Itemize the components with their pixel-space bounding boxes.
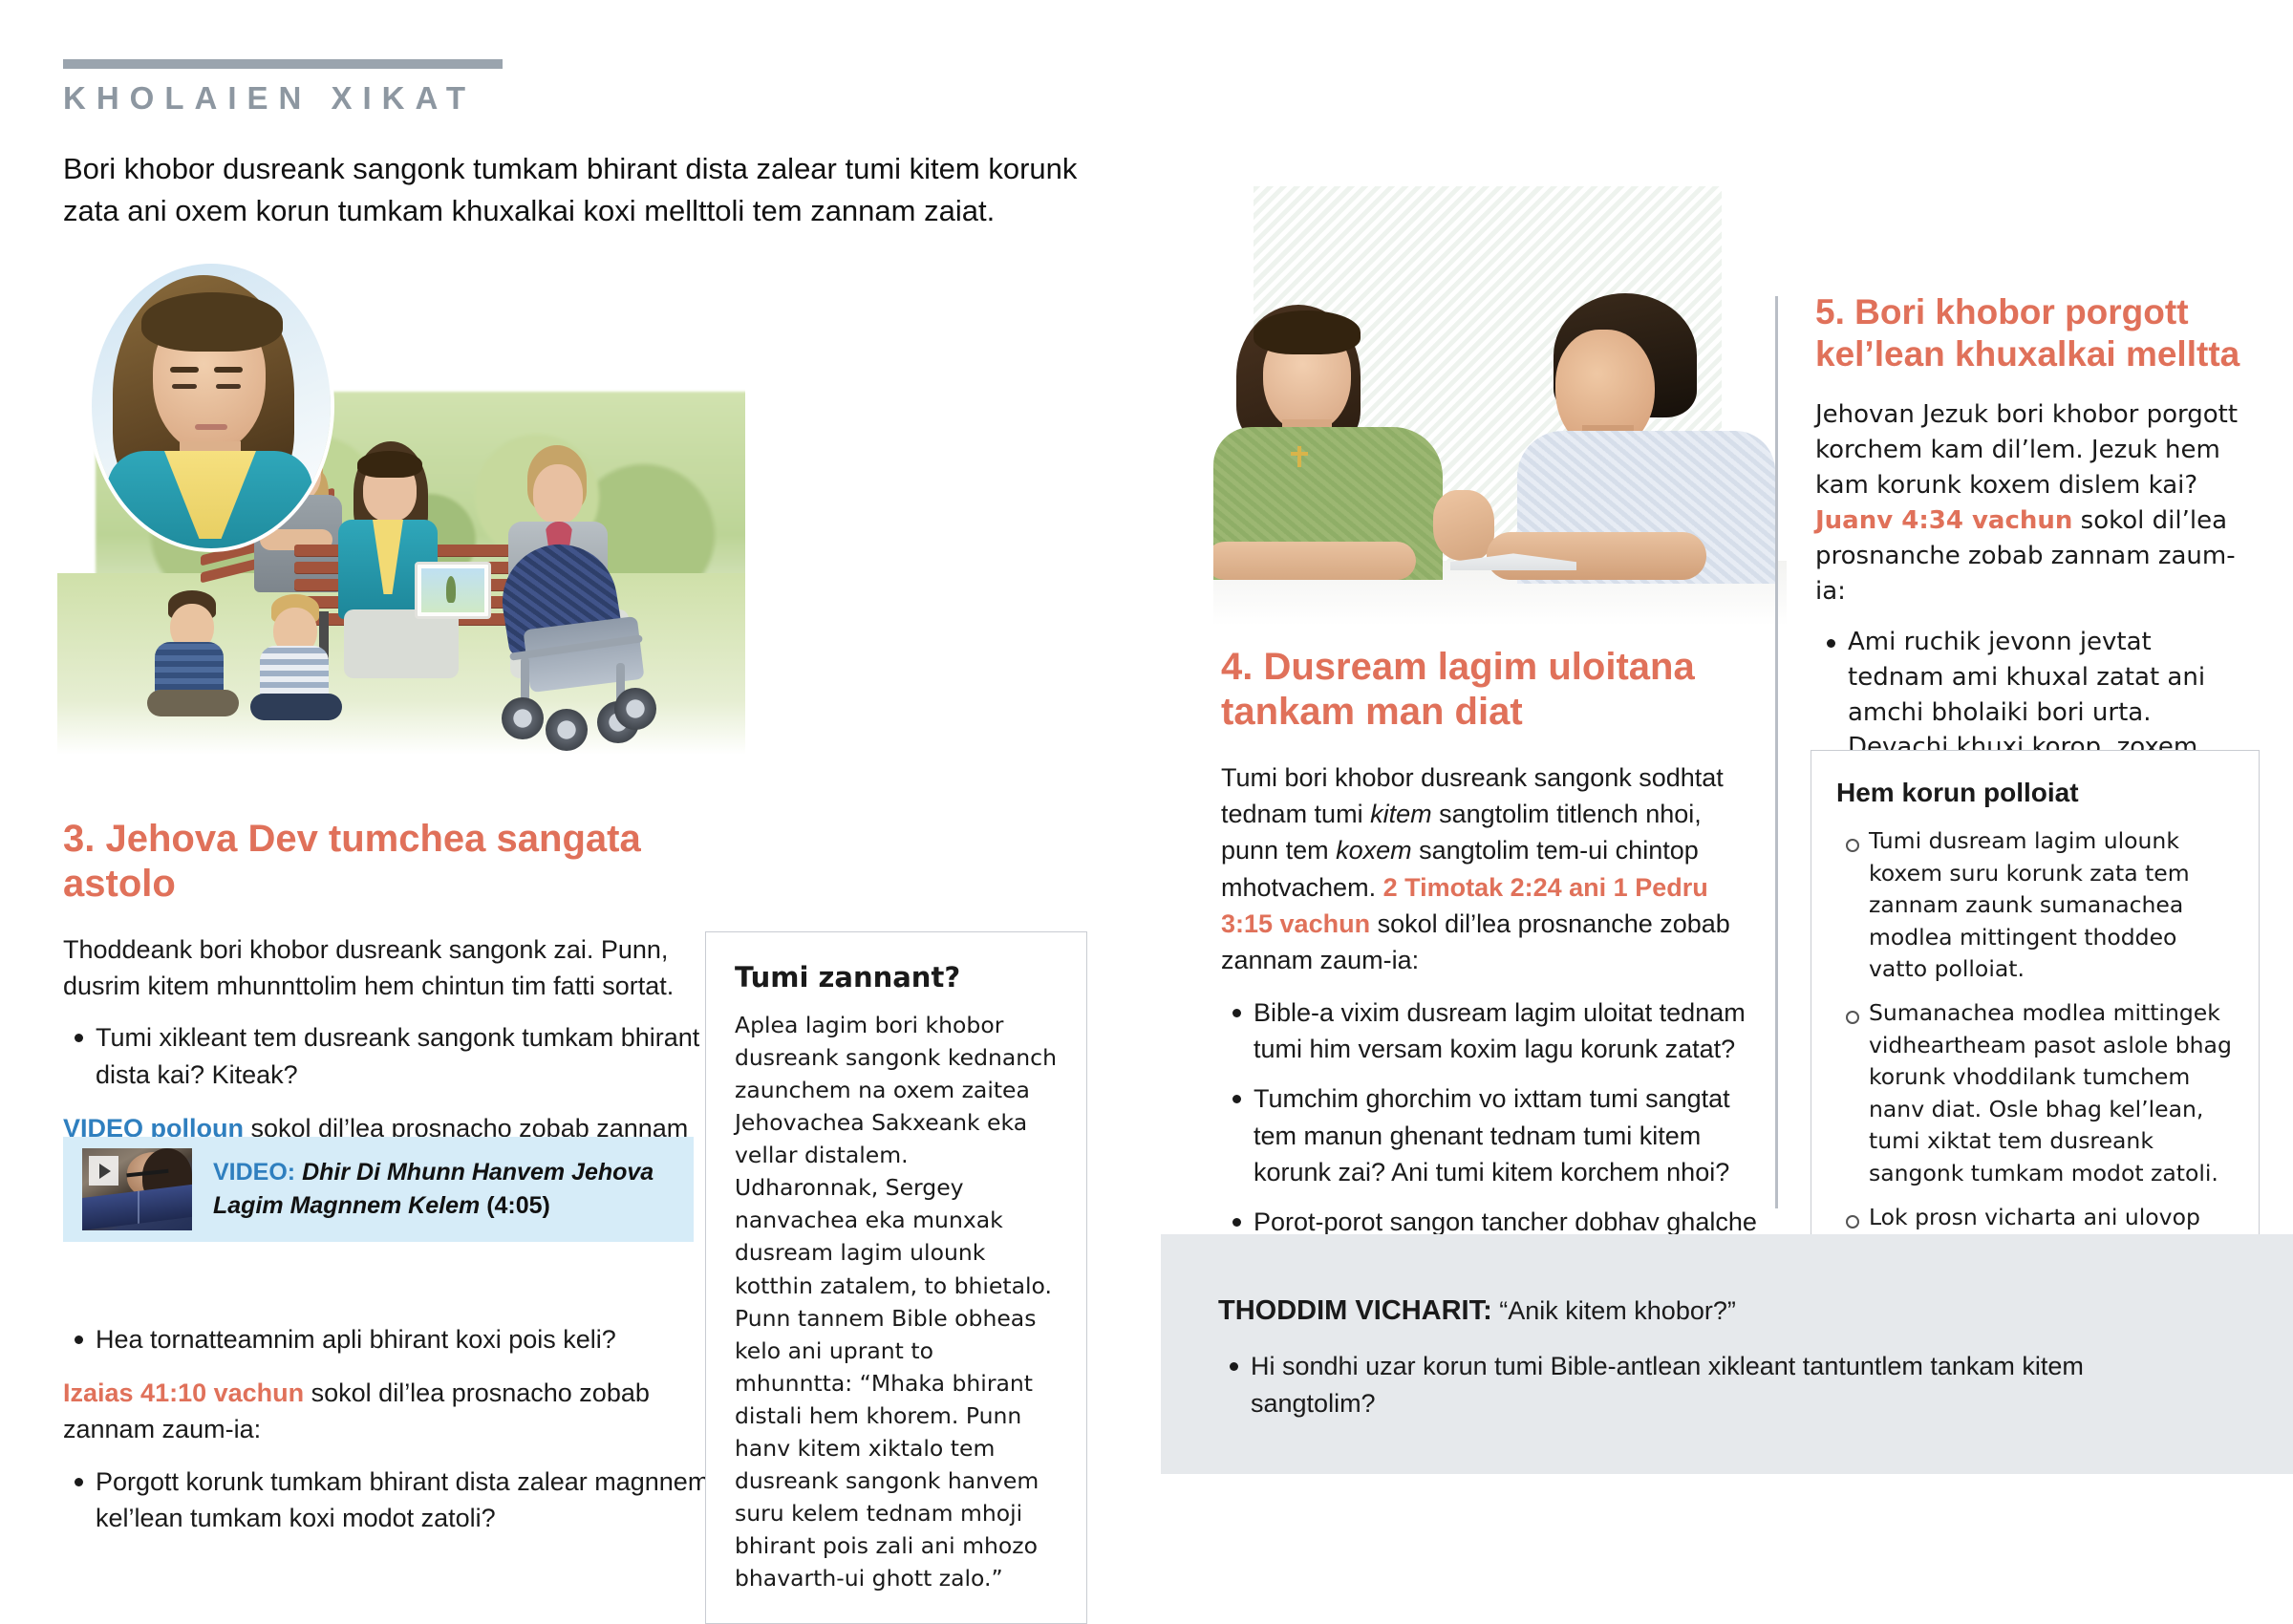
illustration-couple-discussion <box>1213 186 1787 626</box>
section3-heading: 3. Jehova Dev tumchea sangata astolo <box>63 817 722 907</box>
s4-italic-kitem: kitem <box>1370 800 1432 828</box>
play-icon[interactable] <box>89 1156 118 1186</box>
column-divider <box>1775 296 1778 1208</box>
box-zannant-title: Tumi zannant? <box>735 957 1058 997</box>
video-label: VIDEO: <box>213 1159 295 1186</box>
footer-content: THODDIM VICHARIT: “Anik kitem khobor?” H… <box>1218 1292 2174 1439</box>
footer-band: THODDIM VICHARIT: “Anik kitem khobor?” H… <box>1161 1234 2293 1474</box>
intro-paragraph: Bori khobor dusreank sangonk tumkam bhir… <box>63 148 1124 232</box>
footer-heading-row: THODDIM VICHARIT: “Anik kitem khobor?” <box>1218 1292 2174 1331</box>
woman-arms <box>1213 542 1416 580</box>
scripture-link-izaias[interactable]: Izaias 41:10 vachun <box>63 1378 304 1407</box>
footer-title: THODDIM VICHARIT: <box>1218 1295 1492 1326</box>
section5-heading: 5. Bori khobor porgott kel’lean khuxalka… <box>1815 291 2250 374</box>
child-right <box>246 594 390 718</box>
woman-bangs <box>1254 310 1361 354</box>
stroller <box>492 545 664 745</box>
list-item: Hea tornatteamnim apli bhirant koxi pois… <box>63 1321 722 1357</box>
tablet-device <box>415 562 491 619</box>
section3-bullets-2: Hea tornatteamnim apli bhirant koxi pois… <box>63 1321 722 1357</box>
list-item: Tumchim ghorchim vo ixttam tumi sangtat … <box>1221 1080 1766 1190</box>
section3-intro: Thoddeank bori khobor dusreank sangonk z… <box>63 931 722 1005</box>
man-gesturing-hand <box>1433 490 1494 561</box>
section3-scripture-lead: Izaias 41:10 vachun sokol dil’lea prosna… <box>63 1375 722 1448</box>
page-kicker: KHOLAIEN XIKAT <box>63 80 476 117</box>
video-callout[interactable]: VIDEO: Dhir Di Mhunn Hanvem Jehova Lagim… <box>63 1137 694 1242</box>
section4-paragraph: Tumi bori khobor dusreank sangonk sodhta… <box>1221 759 1766 979</box>
section4-heading: 4. Dusream lagim uloitana tankam man dia… <box>1221 645 1766 735</box>
box-polloiat-title: Hem korun polloiat <box>1836 774 2234 812</box>
video-caption: VIDEO: Dhir Di Mhunn Hanvem Jehova Lagim… <box>213 1156 694 1224</box>
section5-paragraph: Jehovan Jezuk bori khobor porgott korche… <box>1815 397 2250 609</box>
list-item: Porgott korunk tumkam bhirant dista zale… <box>63 1464 722 1537</box>
s5-t1: Jehovan Jezuk bori khobor porgott korche… <box>1815 400 2238 500</box>
portrait-inset <box>92 264 331 548</box>
video-thumbnail[interactable] <box>82 1148 192 1230</box>
list-item: Tumi dusream lagim ulounk koxem suru kor… <box>1836 825 2234 986</box>
kicker-rule <box>63 59 503 69</box>
list-item: Sumanachea modlea mittingek vidheartheam… <box>1836 997 2234 1190</box>
footer-quote: “Anik kitem khobor?” <box>1492 1296 1736 1325</box>
illustration-park-scene <box>57 258 745 755</box>
middle-column: 4. Dusream lagim uloitana tankam man dia… <box>1221 645 1766 1331</box>
scripture-link-juanv[interactable]: Juanv 4:34 vachun <box>1815 506 2072 535</box>
list-item: Tumi xikleant tem dusreank sangonk tumka… <box>63 1019 722 1093</box>
list-item: Bible-a vixim dusream lagim uloitat tedn… <box>1221 994 1766 1068</box>
s4-italic-koxem: koxem <box>1336 836 1412 865</box>
list-item: Hi sondhi uzar korun tumi Bible-antlean … <box>1218 1348 2174 1421</box>
footer-bullets: Hi sondhi uzar korun tumi Bible-antlean … <box>1218 1348 2174 1421</box>
section3-bullets-1: Tumi xikleant tem dusreank sangonk tumka… <box>63 1019 722 1093</box>
section3-bullets-3: Porgott korunk tumkam bhirant dista zale… <box>63 1464 722 1537</box>
cross-pendant-icon <box>1297 446 1301 467</box>
box-zannant-body: Aplea lagim bori khobor dusreank sangonk… <box>735 1009 1058 1594</box>
video-duration: (4:05) <box>486 1192 550 1219</box>
did-you-know-box: Tumi zannant? Aplea lagim bori khobor du… <box>705 931 1087 1624</box>
